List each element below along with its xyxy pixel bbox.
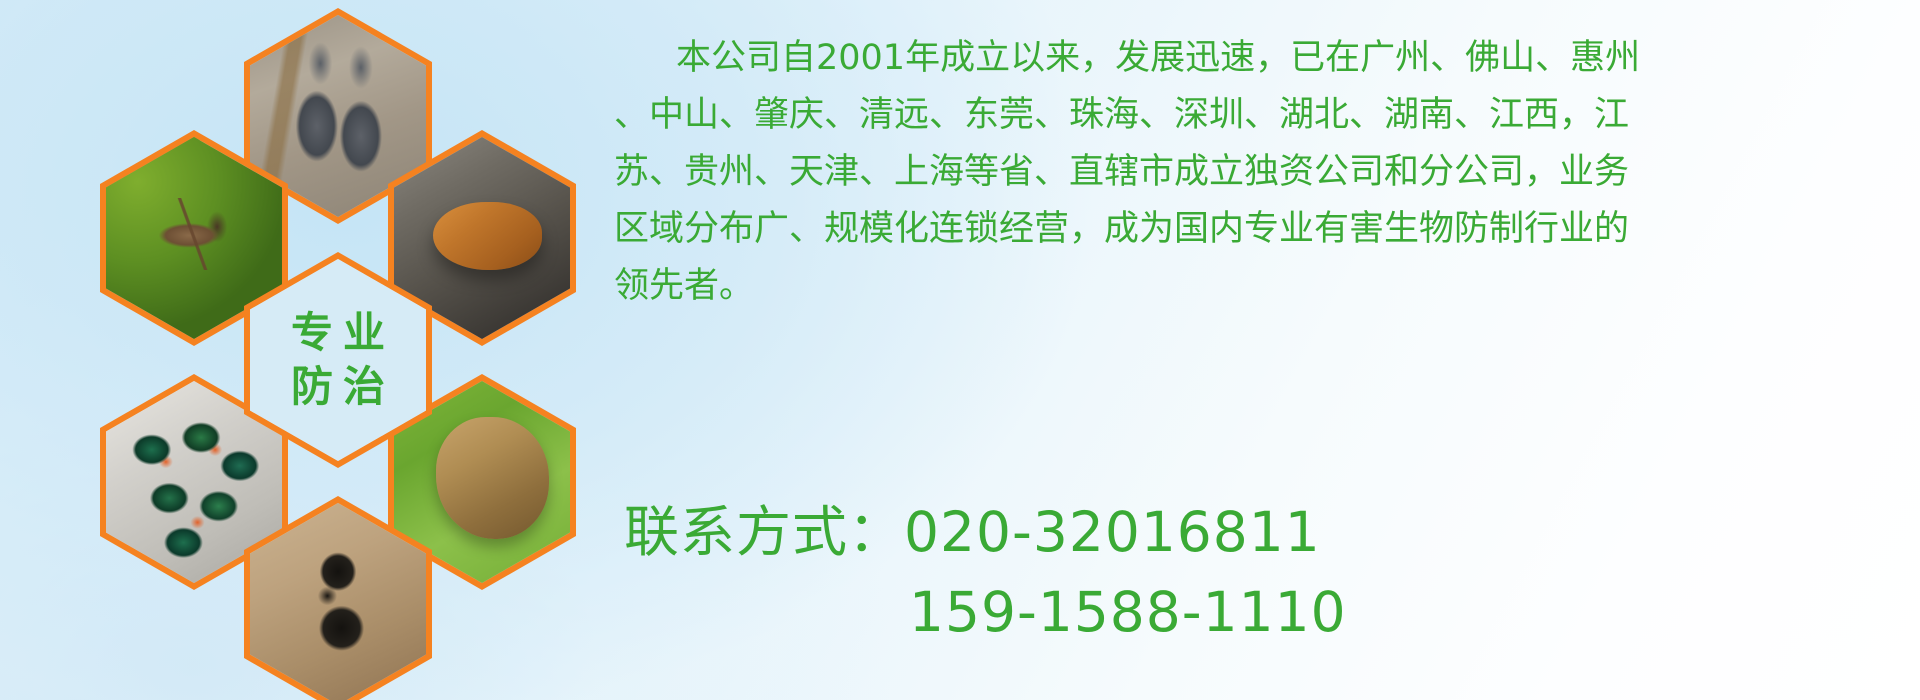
hex-inner: 专业 防治 [250,259,426,461]
intro-line-2: 、中山、肇庆、清远、东莞、珠海、深圳、湖北、湖南、江西，江 [614,87,1899,144]
intro-line-4: 区域分布广、规模化连锁经营，成为国内专业有害生物防制行业的 [614,201,1899,258]
contact-landline-row: 联系方式：020-32016811 [624,492,1347,572]
contact-landline-number[interactable]: 020-32016811 [904,500,1321,564]
contact-mobile-row: 159-1588-1110 [624,572,1347,652]
slogan-block: 专业 防治 [250,259,426,461]
ant-photo [250,503,426,700]
company-intro-paragraph: 本公司自2001年成立以来，发展迅速，已在广州、佛山、惠州 、中山、肇庆、清远、… [614,30,1899,315]
intro-line-5: 领先者。 [614,258,1899,315]
hex-inner [250,503,426,700]
honeycomb-image-cluster: 专业 防治 [88,6,588,566]
contact-block: 联系方式：020-32016811 159-1588-1110 [624,492,1347,652]
intro-line-3: 苏、贵州、天津、上海等省、直辖市成立独资公司和分公司，业务 [614,144,1899,201]
contact-label: 联系方式： [624,500,904,564]
intro-line-1: 本公司自2001年成立以来，发展迅速，已在广州、佛山、惠州 [614,30,1899,87]
slogan-line-1: 专业 [281,311,395,355]
slogan-line-2: 防治 [281,365,395,409]
promo-banner: 专业 防治 本公司自2001年成立以来，发展迅速，已在广州、佛山、惠州 、中山、… [0,0,1920,700]
contact-mobile-number[interactable]: 159-1588-1110 [909,580,1347,644]
